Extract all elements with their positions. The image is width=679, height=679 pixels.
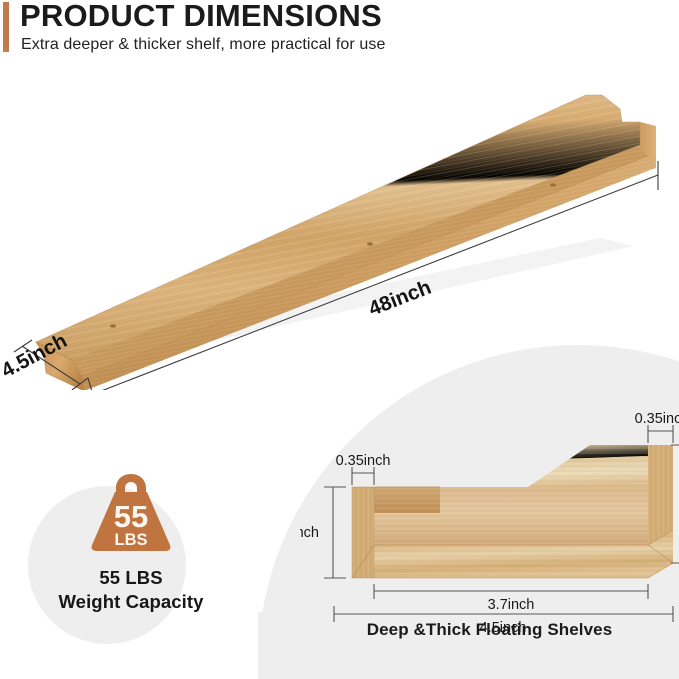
cross-section-diagram: 0.35inch 0.35inch 0.5inch 1.8inch 3.7inc… [300,395,679,635]
xsec-left-end [352,487,374,578]
xsec-front-lip [374,487,440,513]
xsec-label-front-lip-thickness: 0.35inch [336,453,391,469]
product-dimensions-infographic: PRODUCT DIMENSIONS Extra deeper & thicke… [0,0,679,679]
xsec-label-front-lip-height: 0.5inch [300,525,319,541]
xsec-label-inner-depth: 3.7inch [488,597,535,613]
screw-hole-center [367,242,373,246]
xsec-label-back-lip-thickness: 0.35inch [635,411,679,427]
weight-icon-unit: LBS [115,531,148,549]
page-title: PRODUCT DIMENSIONS [20,0,382,34]
weight-capacity-caption: 55 LBS Weight Capacity [36,566,226,615]
shelf-front-lip [82,156,650,390]
weight-icon: 55 LBS [86,470,176,555]
weight-icon-value: 55 [114,499,148,534]
screw-hole-left [110,324,116,328]
shelf-back-panel [36,95,640,360]
hero-shelf-illustration: 48inch 4.5inch [0,60,679,390]
cross-section-caption: Deep &Thick Floating Shelves [300,620,679,640]
screw-hole-right [550,183,556,187]
page-subtitle: Extra deeper & thicker shelf, more pract… [21,36,385,54]
weight-capacity-line1: 55 LBS [36,566,226,590]
accent-bar [3,2,9,52]
weight-capacity-block: 55 LBS 55 LBS Weight Capacity [36,470,226,635]
weight-capacity-line2: Weight Capacity [36,590,226,614]
